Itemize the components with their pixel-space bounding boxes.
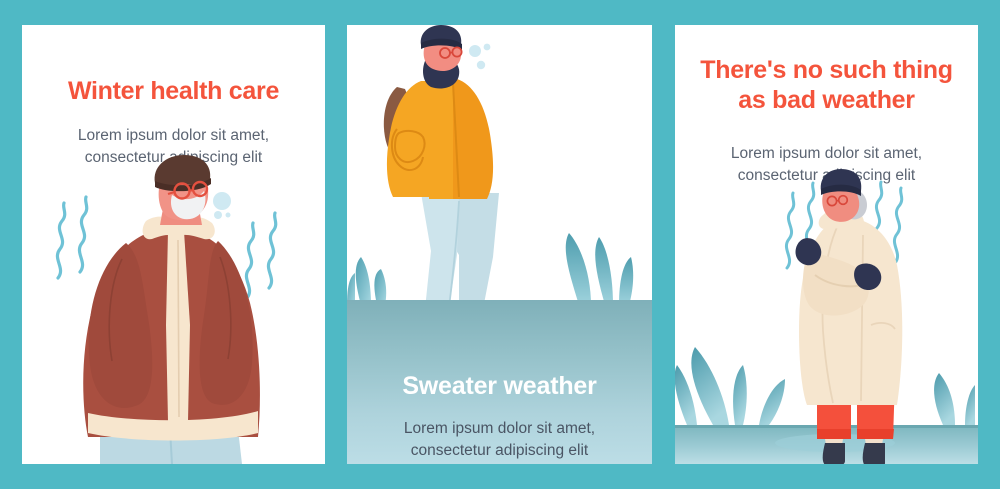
breath-puff-icon [213,192,231,219]
sweater-weather-panel: Sweater weather Lorem ipsum dolor sit am… [347,300,652,464]
pants-cuff-right [857,429,894,439]
boot-left [823,443,845,464]
jacket-center [429,81,453,199]
card-2-subtitle-line-2: consectetur adipiscing elit [411,442,589,459]
card-2-title: Sweater weather [347,372,652,401]
illustration-woman-shivering [675,25,978,464]
coat-placket-line [178,240,179,417]
shiver-lines-right-icon [246,213,275,298]
card-no-bad-weather[interactable]: There's no such thing as bad weather Lor… [675,25,978,464]
plant-right [566,233,633,305]
pants-cuff-left [817,429,851,439]
card-sweater-weather[interactable]: Sweater weather Lorem ipsum dolor sit am… [347,25,652,464]
card-2-subtitle-line-1: Lorem ipsum dolor sit amet, [404,420,595,437]
plant-right [934,373,975,425]
plant-left [675,347,785,425]
shiver-lines-left-icon [57,197,86,278]
jeans-left-leg [421,193,459,309]
poster-set: Winter health care Lorem ipsum dolor sit… [0,0,1000,489]
illustration-elderly-man-shivering [22,25,325,464]
breath-puff-icon [469,44,490,70]
card-2-subtitle: Lorem ipsum dolor sit amet, consectetur … [367,418,632,462]
boot-right [863,443,885,464]
plant-left [347,257,386,305]
card-winter-health-care[interactable]: Winter health care Lorem ipsum dolor sit… [22,25,325,464]
